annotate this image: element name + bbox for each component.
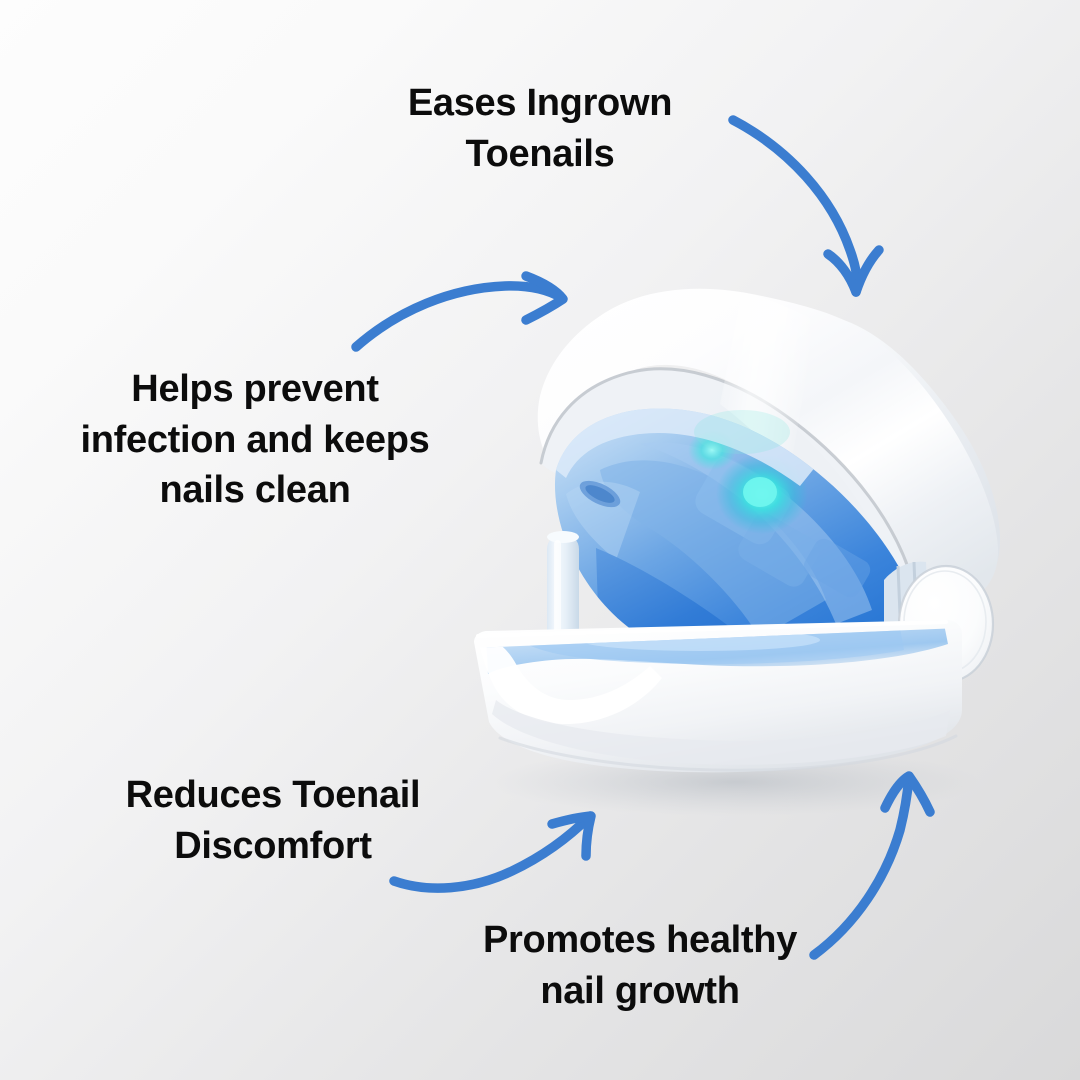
arrow-to-lid-left-head <box>526 276 563 320</box>
arrow-overlay <box>0 0 1080 1080</box>
arrow-to-lid-left <box>356 276 563 347</box>
arrow-to-base-bottom <box>814 776 930 955</box>
arrow-to-lid-top <box>733 120 879 292</box>
arrow-to-base-bottom-shaft <box>814 777 909 955</box>
arrow-to-base-left <box>394 816 591 888</box>
infographic-canvas: Eases Ingrown Toenails Helps prevent inf… <box>0 0 1080 1080</box>
arrow-to-base-left-shaft <box>394 816 590 888</box>
